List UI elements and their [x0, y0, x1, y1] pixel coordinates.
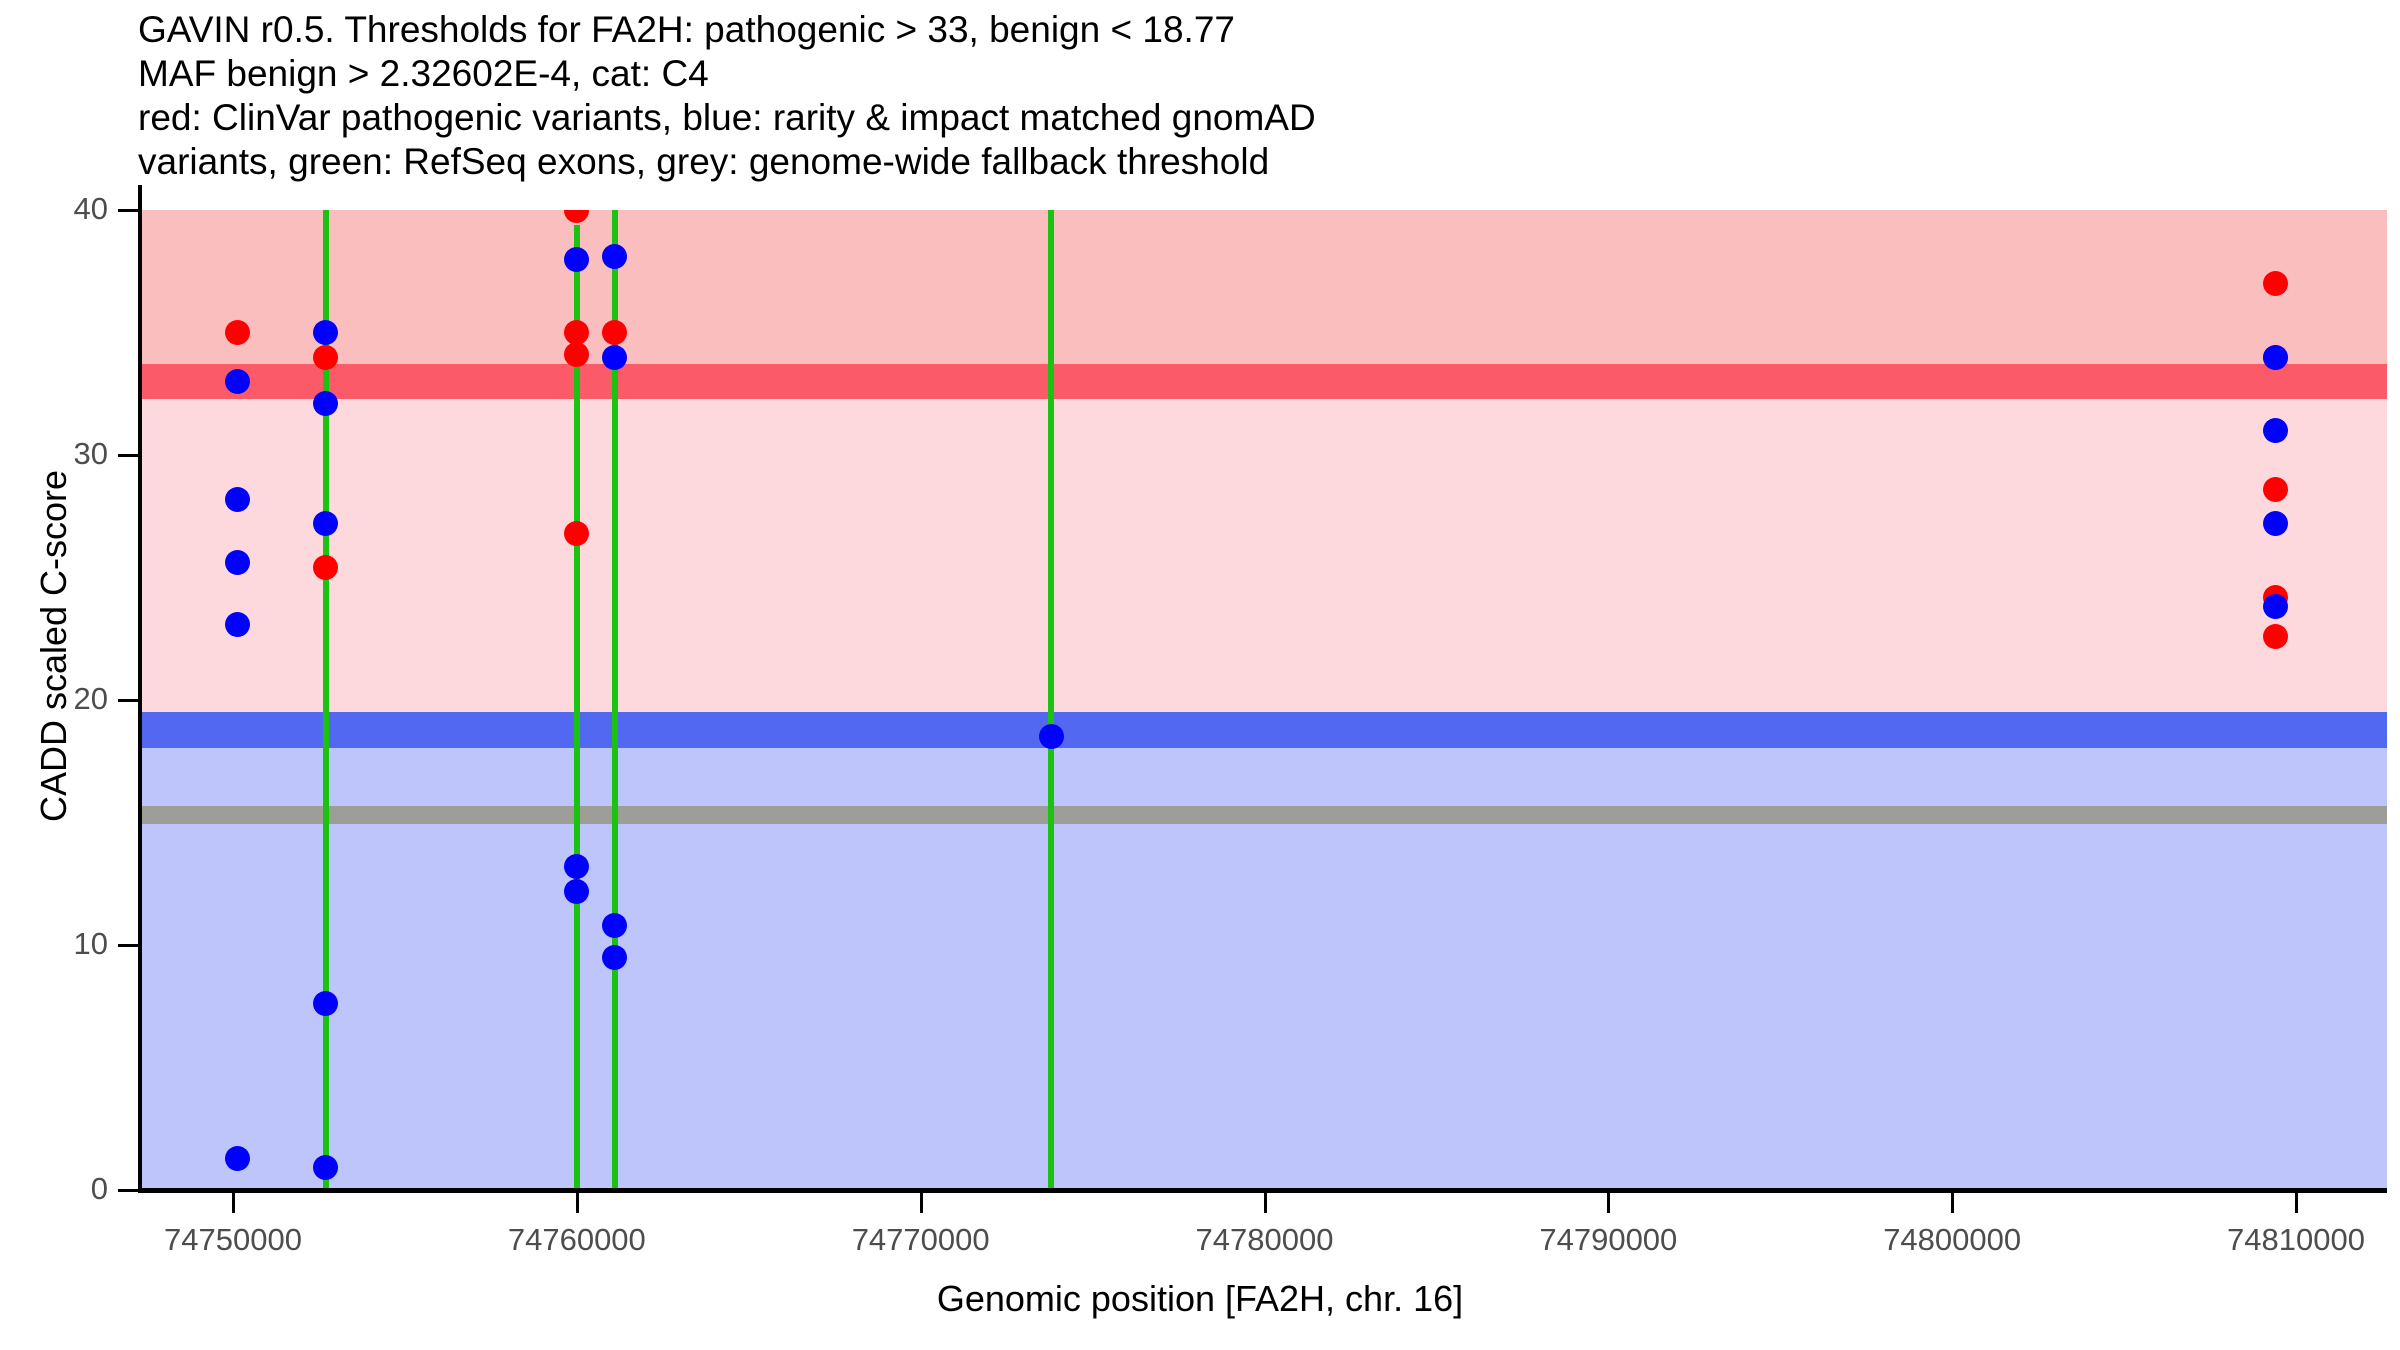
y-tick — [118, 699, 139, 702]
pathogenic-variant-point — [2263, 624, 2288, 649]
x-tick-label: 74750000 — [164, 1222, 302, 1258]
title-line-3: red: ClinVar pathogenic variants, blue: … — [138, 96, 2338, 140]
y-tick — [118, 454, 139, 457]
title-line-2: MAF benign > 2.32602E-4, cat: C4 — [138, 52, 2338, 96]
y-tick-label: 0 — [0, 1171, 108, 1207]
x-tick — [1607, 1193, 1610, 1213]
x-tick — [920, 1193, 923, 1213]
gnomad-variant-point — [225, 612, 250, 637]
pathogenic-variant-point — [2263, 271, 2288, 296]
plot-panel — [140, 210, 2387, 1190]
gnomad-variant-point — [2263, 511, 2288, 536]
x-tick-label: 74790000 — [1539, 1222, 1677, 1258]
fallback-threshold-band — [140, 806, 2387, 825]
pathogenic-variant-point — [225, 320, 250, 345]
x-tick-label: 74780000 — [1196, 1222, 1334, 1258]
y-tick — [118, 1189, 139, 1192]
x-tick-label: 74760000 — [508, 1222, 646, 1258]
exon-marker — [574, 225, 580, 1190]
gnomad-variant-point — [225, 369, 250, 394]
x-axis-line — [138, 1188, 2387, 1193]
x-tick-label: 74810000 — [2227, 1222, 2365, 1258]
gnomad-variant-point — [2263, 345, 2288, 370]
plot-title: GAVIN r0.5. Thresholds for FA2H: pathoge… — [138, 8, 2338, 184]
gnomad-variant-point — [564, 879, 589, 904]
exon-marker — [1048, 210, 1054, 1190]
x-tick — [1951, 1193, 1954, 1213]
title-line-1: GAVIN r0.5. Thresholds for FA2H: pathoge… — [138, 8, 2338, 52]
gnomad-variant-point — [2263, 418, 2288, 443]
gnomad-variant-point — [602, 913, 627, 938]
title-line-4: variants, green: RefSeq exons, grey: gen… — [138, 140, 2338, 184]
benign-threshold-band — [140, 712, 2387, 747]
x-tick — [1264, 1193, 1267, 1213]
x-tick — [576, 1193, 579, 1213]
x-axis-title: Genomic position [FA2H, chr. 16] — [0, 1278, 2400, 1320]
gnomad-variant-point — [602, 345, 627, 370]
pathogenic-threshold-band — [140, 364, 2387, 399]
gavin-cadd-scatter-plot: GAVIN r0.5. Thresholds for FA2H: pathoge… — [0, 0, 2400, 1350]
pathogenic-variant-point — [602, 320, 627, 345]
gnomad-variant-point — [602, 945, 627, 970]
x-tick-label: 74770000 — [852, 1222, 990, 1258]
y-tick-label: 40 — [0, 191, 108, 227]
y-axis-title: CADD scaled C-score — [33, 266, 75, 1026]
gnomad-variant-point — [1039, 724, 1064, 749]
y-tick — [118, 944, 139, 947]
region-uncertain — [140, 399, 2387, 712]
x-tick — [2295, 1193, 2298, 1213]
gnomad-variant-point — [225, 1146, 250, 1171]
y-tick — [118, 209, 139, 212]
region-above-pathogenic — [140, 210, 2387, 364]
y-axis-line — [138, 185, 142, 1192]
pathogenic-variant-point — [2263, 477, 2288, 502]
gnomad-variant-point — [225, 487, 250, 512]
x-tick-label: 74800000 — [1883, 1222, 2021, 1258]
gnomad-variant-point — [564, 247, 589, 272]
pathogenic-variant-point — [313, 345, 338, 370]
x-tick — [232, 1193, 235, 1213]
